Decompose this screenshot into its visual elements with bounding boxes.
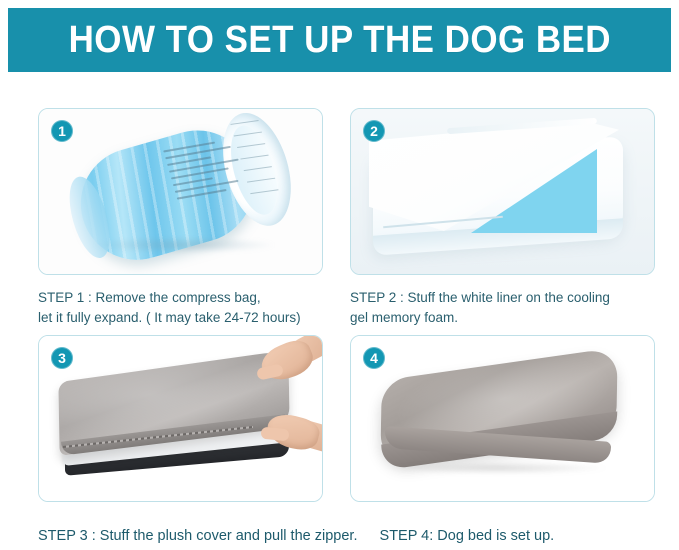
finished-dog-bed-illustration	[351, 336, 654, 501]
page-title: HOW TO SET UP THE DOG BED	[68, 21, 610, 59]
step-4-cell: 4	[350, 335, 655, 502]
compressed-roll-illustration	[39, 109, 322, 274]
step-4-image-panel: 4	[350, 335, 655, 502]
bottom-captions-row: STEP 3 : Stuff the plush cover and pull …	[38, 528, 658, 544]
step-3-image-panel: 3	[38, 335, 323, 502]
header-banner: HOW TO SET UP THE DOG BED	[8, 8, 671, 72]
step-3-badge: 3	[51, 347, 73, 369]
step-2-caption: STEP 2 : Stuff the white liner on the co…	[350, 288, 655, 328]
step-3-caption: STEP 3 : Stuff the plush cover and pull …	[38, 528, 357, 544]
bed-drop-shadow	[391, 462, 607, 474]
step-1-badge: 1	[51, 120, 73, 142]
step-4-badge: 4	[363, 347, 385, 369]
step-2-cell: 2 STEP 2 : Stuff the white liner on the …	[350, 108, 655, 328]
liner-and-gel-foam-illustration	[351, 109, 654, 274]
plush-cover-installation-illustration	[39, 336, 322, 501]
step-2-badge: 2	[363, 120, 385, 142]
steps-grid: 1 STEP 1 : Remove the compress bag, let …	[0, 78, 679, 550]
infographic-page: HOW TO SET UP THE DOG BED	[0, 0, 679, 550]
roll-drop-shadow	[91, 237, 277, 253]
step-1-caption: STEP 1 : Remove the compress bag, let it…	[38, 288, 323, 328]
step-4-caption: STEP 4: Dog bed is set up.	[380, 528, 555, 544]
step-2-image-panel: 2	[350, 108, 655, 275]
step-1-image-panel: 1	[38, 108, 323, 275]
step-1-cell: 1 STEP 1 : Remove the compress bag, let …	[38, 108, 323, 328]
step-3-cell: 3	[38, 335, 323, 502]
